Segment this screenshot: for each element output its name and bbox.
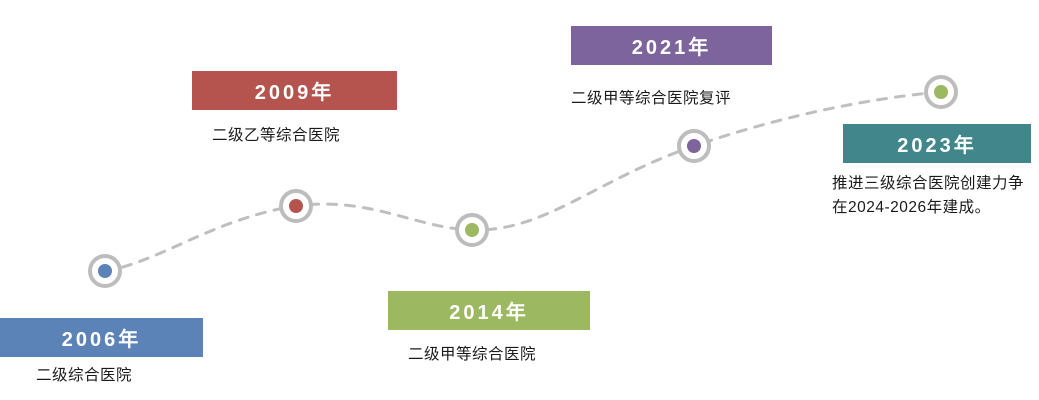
year-bar-2023[interactable]: 2023年 — [843, 124, 1031, 163]
year-bar-2014[interactable]: 2014年 — [388, 291, 590, 330]
year-label-2021: 2021年 — [632, 31, 712, 60]
timeline-dashed-path — [105, 92, 941, 271]
year-bar-2009[interactable]: 2009年 — [192, 71, 397, 110]
year-label-2009: 2009年 — [255, 76, 335, 105]
timeline-node-dot-2023 — [934, 85, 948, 99]
year-label-2014: 2014年 — [449, 296, 529, 325]
year-label-2006: 2006年 — [62, 323, 142, 352]
timeline-node-2021[interactable] — [677, 129, 711, 163]
timeline-node-2023[interactable] — [924, 75, 958, 109]
year-label-2023: 2023年 — [897, 129, 977, 158]
description-2006: 二级综合医院 — [36, 364, 132, 388]
description-2009: 二级乙等综合医院 — [212, 124, 340, 148]
timeline-node-dot-2006 — [98, 264, 112, 278]
description-2014: 二级甲等综合医院 — [408, 343, 536, 367]
timeline-node-dot-2014 — [465, 223, 479, 237]
timeline-node-dot-2009 — [289, 199, 303, 213]
timeline-node-dot-2021 — [687, 139, 701, 153]
timeline-node-2014[interactable] — [455, 213, 489, 247]
year-bar-2021[interactable]: 2021年 — [571, 26, 772, 65]
description-2021: 二级甲等综合医院复评 — [571, 87, 731, 111]
year-bar-2006[interactable]: 2006年 — [0, 318, 203, 357]
timeline-node-2009[interactable] — [279, 189, 313, 223]
timeline-node-2006[interactable] — [88, 254, 122, 288]
timeline-infographic: 2006年 二级综合医院 2009年 二级乙等综合医院 2014年 二级甲等综合… — [0, 0, 1039, 400]
description-2023: 推进三级综合医院创建力争在2024-2026年建成。 — [832, 172, 1032, 220]
